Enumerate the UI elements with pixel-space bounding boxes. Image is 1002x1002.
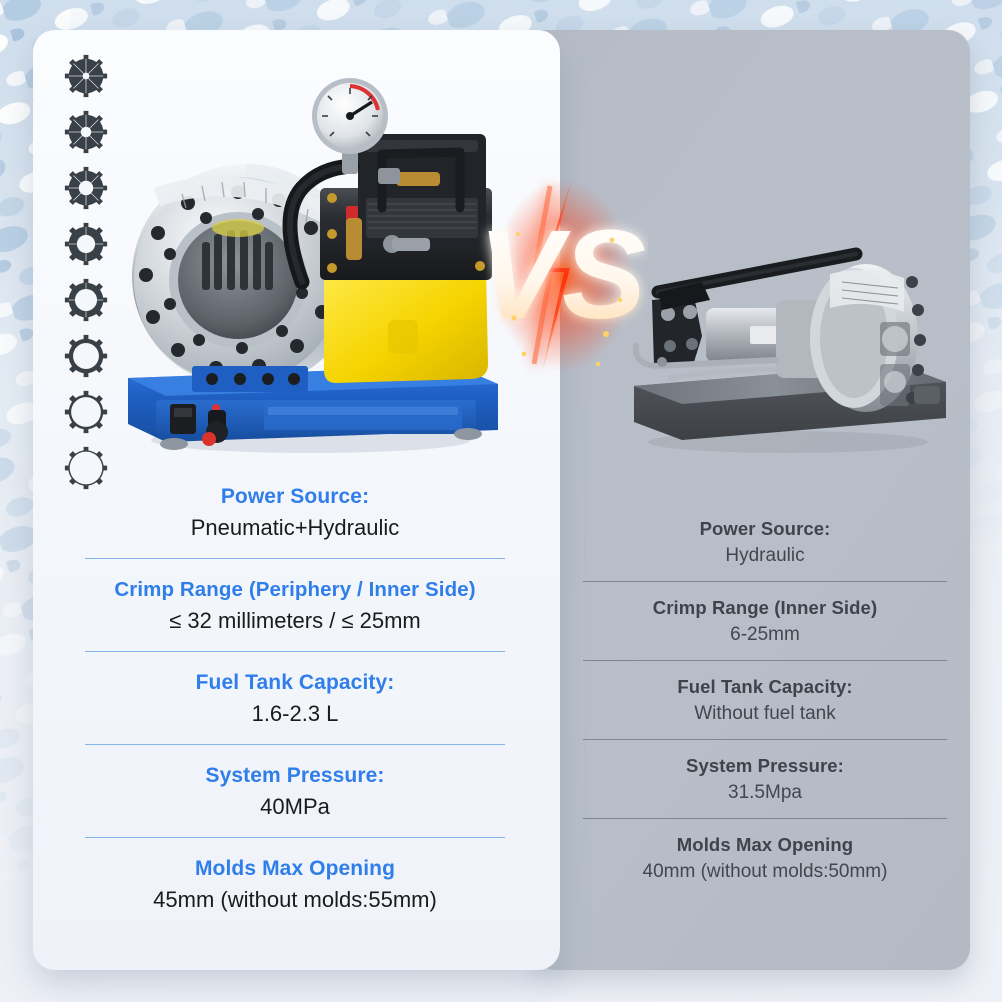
spec-label: Fuel Tank Capacity: [583,674,947,700]
spec-divider [85,558,505,559]
spec-label: System Pressure: [583,753,947,779]
spec-label: Fuel Tank Capacity: [85,668,505,698]
spec-row: Molds Max Opening 45mm (without molds:55… [85,854,505,916]
spec-row: Fuel Tank Capacity: 1.6-2.3 L [85,668,505,730]
spec-divider [85,744,505,745]
spec-row: Power Source: Pneumatic+Hydraulic [85,482,505,544]
spec-value: 40MPa [85,791,505,823]
spec-value: Without fuel tank [583,700,947,728]
spec-divider [85,651,505,652]
spec-label: Crimp Range (Inner Side) [583,595,947,621]
spec-label: Crimp Range (Periphery / Inner Side) [85,575,505,605]
spec-list-right: Power Source: Hydraulic Crimp Range (Inn… [583,516,947,886]
spec-divider [583,660,947,661]
spec-divider [583,739,947,740]
spec-label: Power Source: [583,516,947,542]
spec-row: Crimp Range (Periphery / Inner Side) ≤ 3… [85,575,505,637]
spec-value: 31.5Mpa [583,779,947,807]
spec-value: 6-25mm [583,621,947,649]
spec-row: Crimp Range (Inner Side) 6-25mm [583,595,947,649]
spec-value: 45mm (without molds:55mm) [85,884,505,916]
product-image-manual-crimper [598,150,978,470]
product-image-pneumatic-crimper [96,48,516,468]
spec-label: System Pressure: [85,761,505,791]
spec-row: System Pressure: 31.5Mpa [583,753,947,807]
spec-value: ≤ 32 millimeters / ≤ 25mm [85,605,505,637]
spec-row: System Pressure: 40MPa [85,761,505,823]
spec-label: Molds Max Opening [583,832,947,858]
spec-value: Hydraulic [583,542,947,570]
spec-divider [85,837,505,838]
spec-list-left: Power Source: Pneumatic+Hydraulic Crimp … [85,482,505,916]
spec-row: Power Source: Hydraulic [583,516,947,570]
spec-divider [583,818,947,819]
spec-row: Fuel Tank Capacity: Without fuel tank [583,674,947,728]
spec-divider [583,581,947,582]
spec-value: Pneumatic+Hydraulic [85,512,505,544]
spec-label: Molds Max Opening [85,854,505,884]
spec-label: Power Source: [85,482,505,512]
spec-value: 40mm (without molds:50mm) [583,858,947,886]
spec-row: Molds Max Opening 40mm (without molds:50… [583,832,947,886]
spec-value: 1.6-2.3 L [85,698,505,730]
